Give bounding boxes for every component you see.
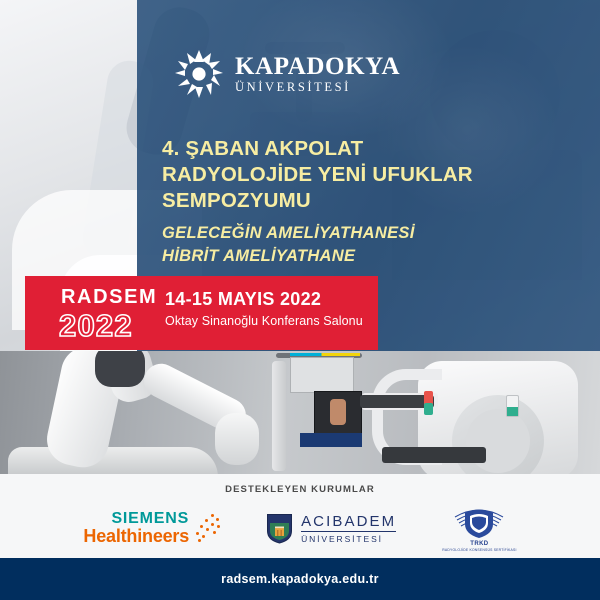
sponsor-logo-siemens-healthineers[interactable]: SIEMENS Healthineers: [83, 511, 220, 546]
trkd-full-name: RADYOLOJİDE KONSENSÜS SERTİFİKASI: [442, 548, 516, 553]
photo-monitor-strip: [290, 353, 360, 356]
event-title-line-3: SEMPOZYUMU: [162, 188, 492, 214]
event-subtitle-line-1: GELECEĞİN AMELİYATHANESİ: [162, 222, 502, 245]
footer-bar: radsem.kapadokya.edu.tr: [0, 558, 600, 600]
photo-indicator: [424, 403, 433, 415]
sponsor-logo-trkd[interactable]: TRKD RADYOLOJİDE KONSENSÜS SERTİFİKASI: [442, 504, 516, 553]
healthineers-name: Healthineers: [83, 527, 189, 545]
sponsors-section: DESTEKLEYEN KURUMLAR SIEMENS Healthineer…: [0, 474, 600, 558]
photo-operating-table: [382, 447, 486, 463]
event-subtitle: GELECEĞİN AMELİYATHANESİ HİBRİT AMELİYAT…: [162, 222, 502, 268]
siemens-wordmark: SIEMENS Healthineers: [83, 511, 189, 546]
hybrid-operating-room-photo: [0, 351, 600, 474]
acibadem-subtitle: ÜNİVERSİTESİ: [301, 534, 396, 544]
sponsor-logo-row: SIEMENS Healthineers: [0, 502, 600, 554]
photo-scan-image: [330, 399, 346, 425]
photo-carm-arm: [215, 413, 259, 465]
photo-monitor-post: [272, 361, 286, 471]
photo-carm-base: [8, 447, 218, 474]
sponsors-heading: DESTEKLEYEN KURUMLAR: [0, 484, 600, 495]
university-logo: KAPADOKYA ÜNİVERSİTESİ: [173, 48, 400, 100]
event-title-line-2: RADYOLOJİDE YENİ UFUKLAR: [162, 162, 492, 188]
event-website-url[interactable]: radsem.kapadokya.edu.tr: [221, 572, 379, 586]
photo-monitor-screen: [290, 357, 354, 393]
event-venue: Oktay Sinanoğlu Konferans Salonu: [165, 314, 363, 328]
photo-indicator: [507, 407, 518, 416]
photo-detector: [360, 395, 434, 408]
event-date: 14-15 MAYIS 2022: [165, 288, 363, 311]
university-subtitle: ÜNİVERSİTESİ: [235, 81, 400, 94]
acibadem-wordmark: ACIBADEM ÜNİVERSİTESİ: [301, 513, 396, 544]
sunburst-icon: [173, 48, 225, 100]
sponsor-logo-acibadem[interactable]: ACIBADEM ÜNİVERSİTESİ: [266, 513, 396, 544]
trkd-shield-icon: [452, 504, 506, 540]
event-subtitle-line-2: HİBRİT AMELİYATHANE: [162, 245, 502, 268]
event-title: 4. ŞABAN AKPOLAT RADYOLOJİDE YENİ UFUKLA…: [162, 136, 492, 215]
photo-carm-joint: [95, 351, 145, 387]
event-title-line-1: 4. ŞABAN AKPOLAT: [162, 136, 492, 162]
photo-monitor-screen: [300, 433, 362, 447]
event-date-block: 14-15 MAYIS 2022 Oktay Sinanoğlu Konfera…: [165, 288, 363, 328]
acibadem-crest-icon: [266, 513, 293, 544]
university-name: KAPADOKYA: [235, 54, 400, 79]
acibadem-name: ACIBADEM: [301, 513, 396, 532]
radsem-label: RADSEM: [61, 286, 157, 309]
poster-root: KAPADOKYA ÜNİVERSİTESİ 4. ŞABAN AKPOLAT …: [0, 0, 600, 600]
siemens-dots-icon: [194, 512, 220, 544]
photo-ct-bore-inner: [466, 409, 530, 473]
siemens-name: SIEMENS: [111, 511, 189, 527]
radsem-year: 2022: [59, 308, 133, 344]
university-wordmark: KAPADOKYA ÜNİVERSİTESİ: [235, 54, 400, 94]
trkd-abbreviation: TRKD: [470, 541, 488, 547]
